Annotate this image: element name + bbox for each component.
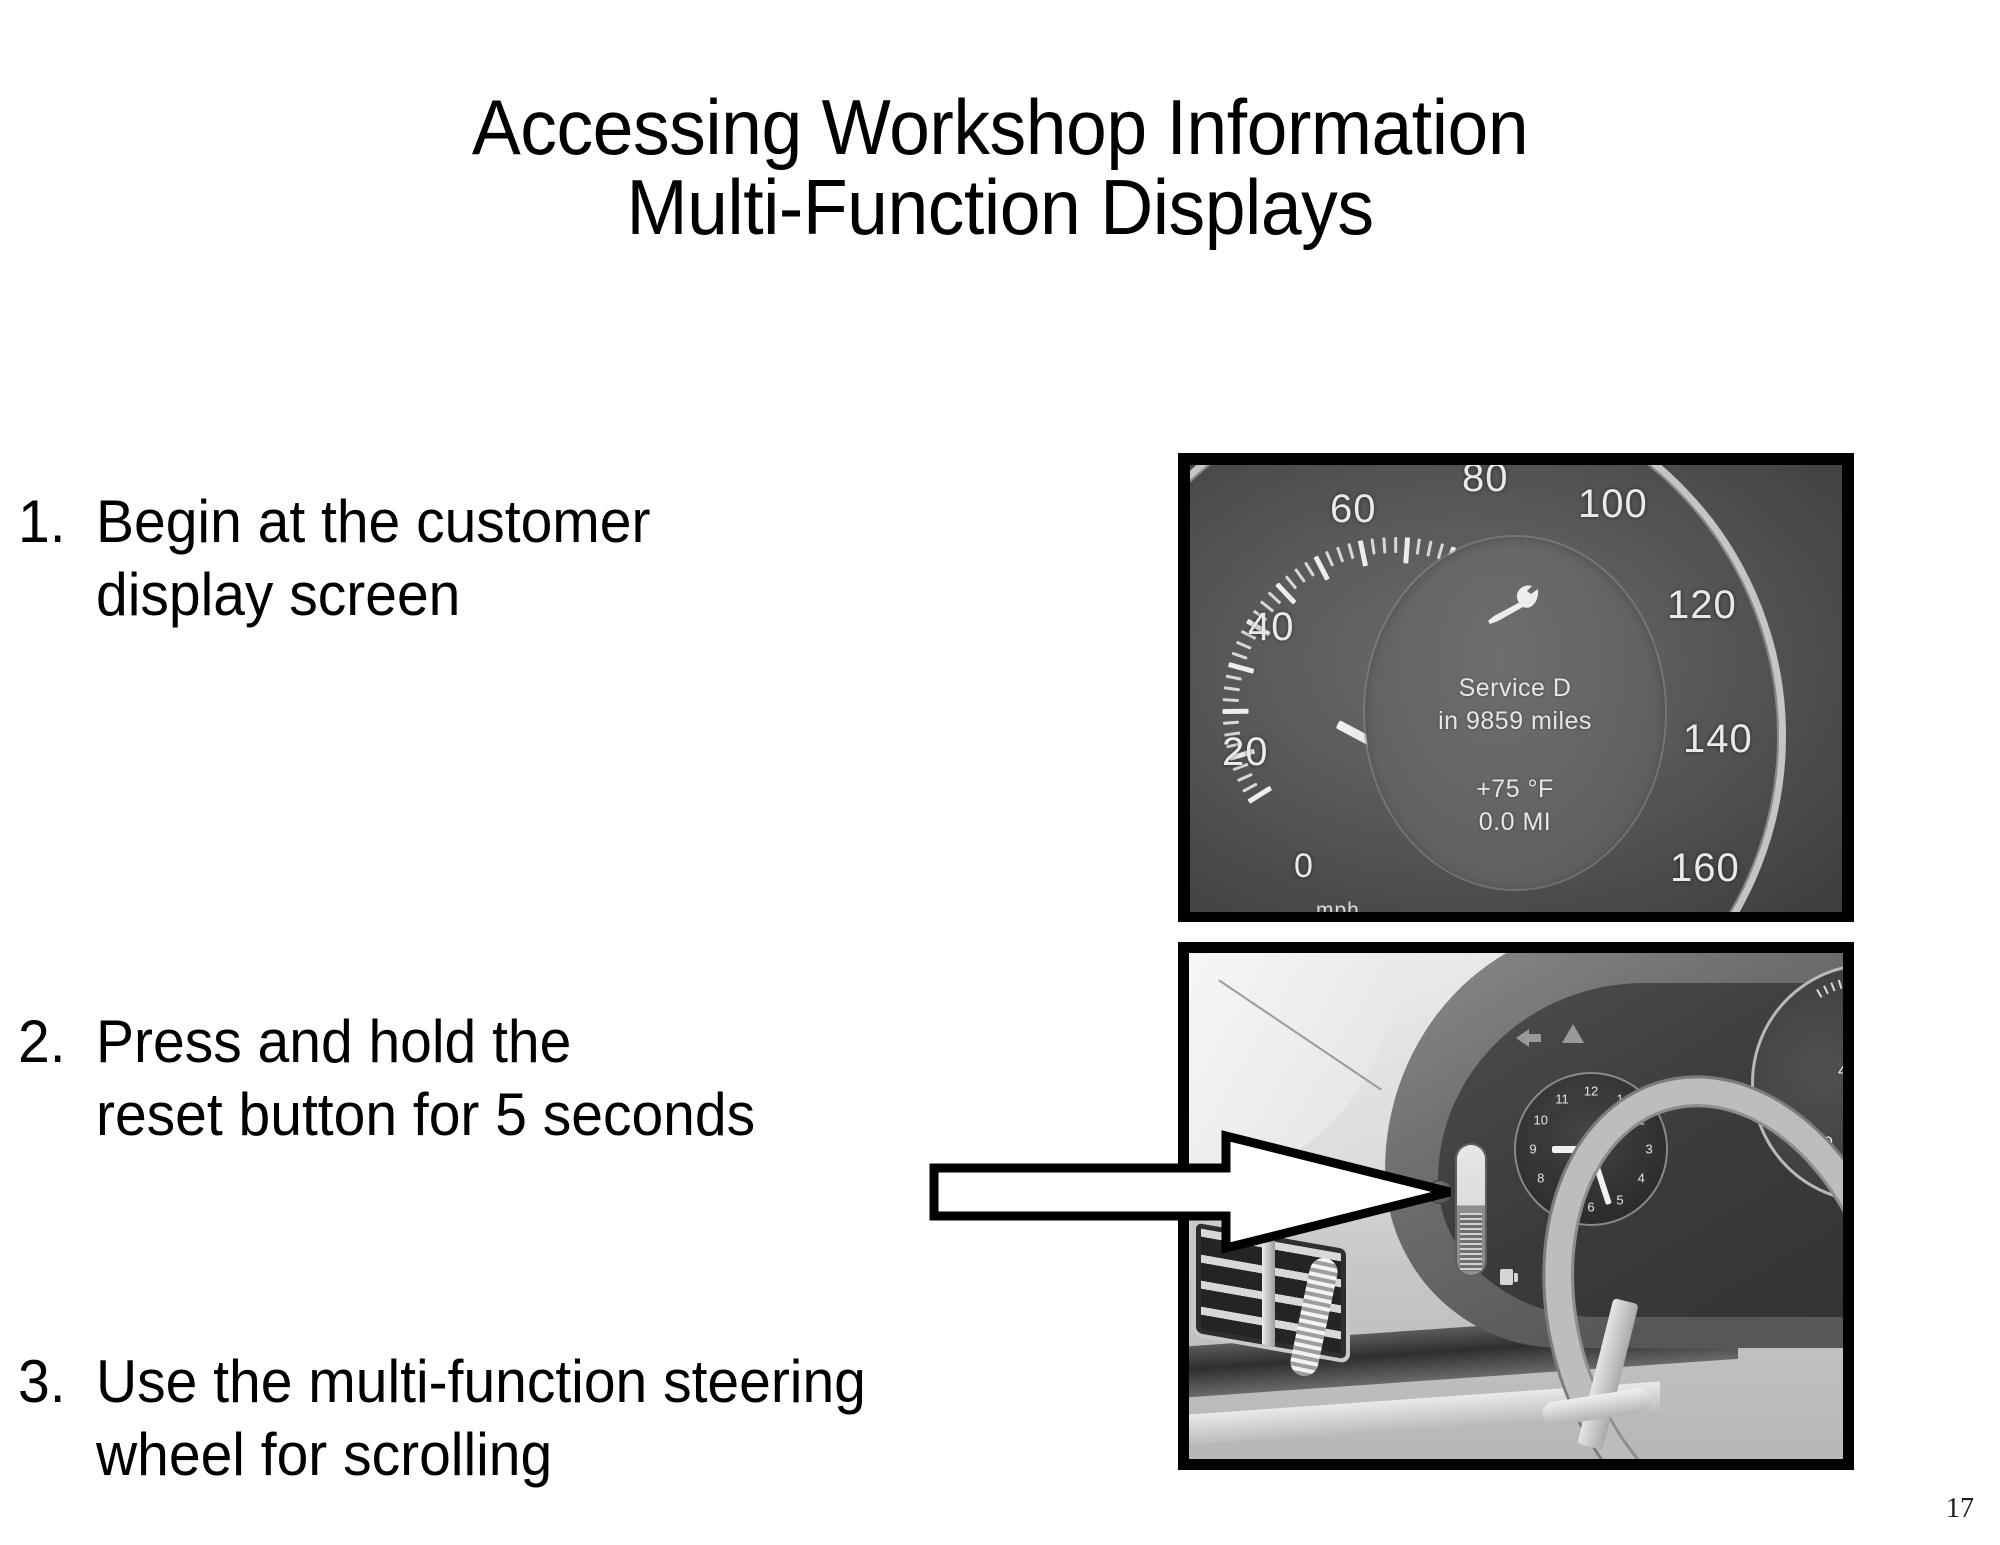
step-1-text: Begin at the customer display screen (96, 485, 650, 631)
fuel-pump-icon (1500, 1269, 1513, 1285)
turn-signal-left-arrow-icon (1516, 1029, 1529, 1047)
mfd-temperature-line: +75 °F (1365, 773, 1665, 806)
mfd-temp-block: +75 °F 0.0 MI (1365, 773, 1665, 838)
clock-numeral: 12 (1583, 1084, 1599, 1099)
gauge-unit-label: mph (1316, 899, 1360, 912)
step-1-line-2: display screen (96, 558, 650, 631)
step-3-text: Use the multi-function steering wheel fo… (96, 1345, 866, 1491)
title-line-2: Multi-Function Displays (60, 168, 1940, 248)
warning-triangle-icon (1562, 1024, 1584, 1043)
gauge-label-zero: 0 (1294, 847, 1314, 886)
speedo-partial-label-40: 40 (1838, 1061, 1843, 1081)
step-1-number: 1. (18, 485, 92, 558)
step-3-number: 3. (18, 1345, 92, 1418)
wrench-icon (1486, 585, 1544, 625)
step-3-line-1: Use the multi-function steering (96, 1345, 866, 1418)
gauge-label-60: 60 (1330, 487, 1377, 532)
step-1-line-1: Begin at the customer (96, 485, 650, 558)
mfd-service-line: Service D (1365, 672, 1665, 705)
multi-function-display: Service D in 9859 miles +75 °F 0.0 MI (1365, 537, 1665, 889)
gauge-label-160: 160 (1670, 846, 1740, 891)
step-3-line-2: wheel for scrolling (96, 1418, 866, 1491)
instrument-cluster-photo: 40 20 60 80 100 120 140 160 0 mph Servic… (1178, 453, 1854, 922)
gauge-label-140: 140 (1683, 717, 1753, 762)
mfd-trip-line: 0.0 MI (1365, 806, 1665, 839)
gauge-label-20: 20 (1222, 730, 1269, 775)
gauge-label-80: 80 (1462, 465, 1509, 501)
step-item-3: 3. Use the multi-function steering wheel… (18, 1345, 1118, 1491)
step-2-text: Press and hold the reset button for 5 se… (96, 1005, 755, 1151)
step-2-line-1: Press and hold the (96, 1005, 755, 1078)
mfd-service-text: Service D in 9859 miles (1365, 672, 1665, 737)
step-2-line-2: reset button for 5 seconds (96, 1078, 755, 1151)
clock-numeral: 11 (1554, 1092, 1570, 1107)
title-line-1: Accessing Workshop Information (60, 88, 1940, 168)
clock-numeral: 10 (1533, 1113, 1549, 1128)
step-item-1: 1. Begin at the customer display screen (18, 485, 1118, 631)
page-number: 17 (1946, 1493, 1974, 1525)
speedometer-gauge: 40 20 60 80 100 120 140 160 0 mph Servic… (1190, 465, 1842, 912)
page-title: Accessing Workshop Information Multi-Fun… (0, 88, 2000, 247)
step-2-number: 2. (18, 1005, 92, 1078)
callout-arrow-to-reset-button (930, 1122, 1460, 1262)
clock-numeral: 8 (1533, 1171, 1549, 1186)
gauge-label-120: 120 (1667, 583, 1737, 628)
mfd-distance-line: in 9859 miles (1365, 705, 1665, 738)
fuel-gauge (1457, 1145, 1485, 1275)
gauge-label-40: 40 (1248, 605, 1295, 650)
clock-numeral: 9 (1525, 1142, 1541, 1157)
gauge-label-100: 100 (1578, 482, 1648, 527)
